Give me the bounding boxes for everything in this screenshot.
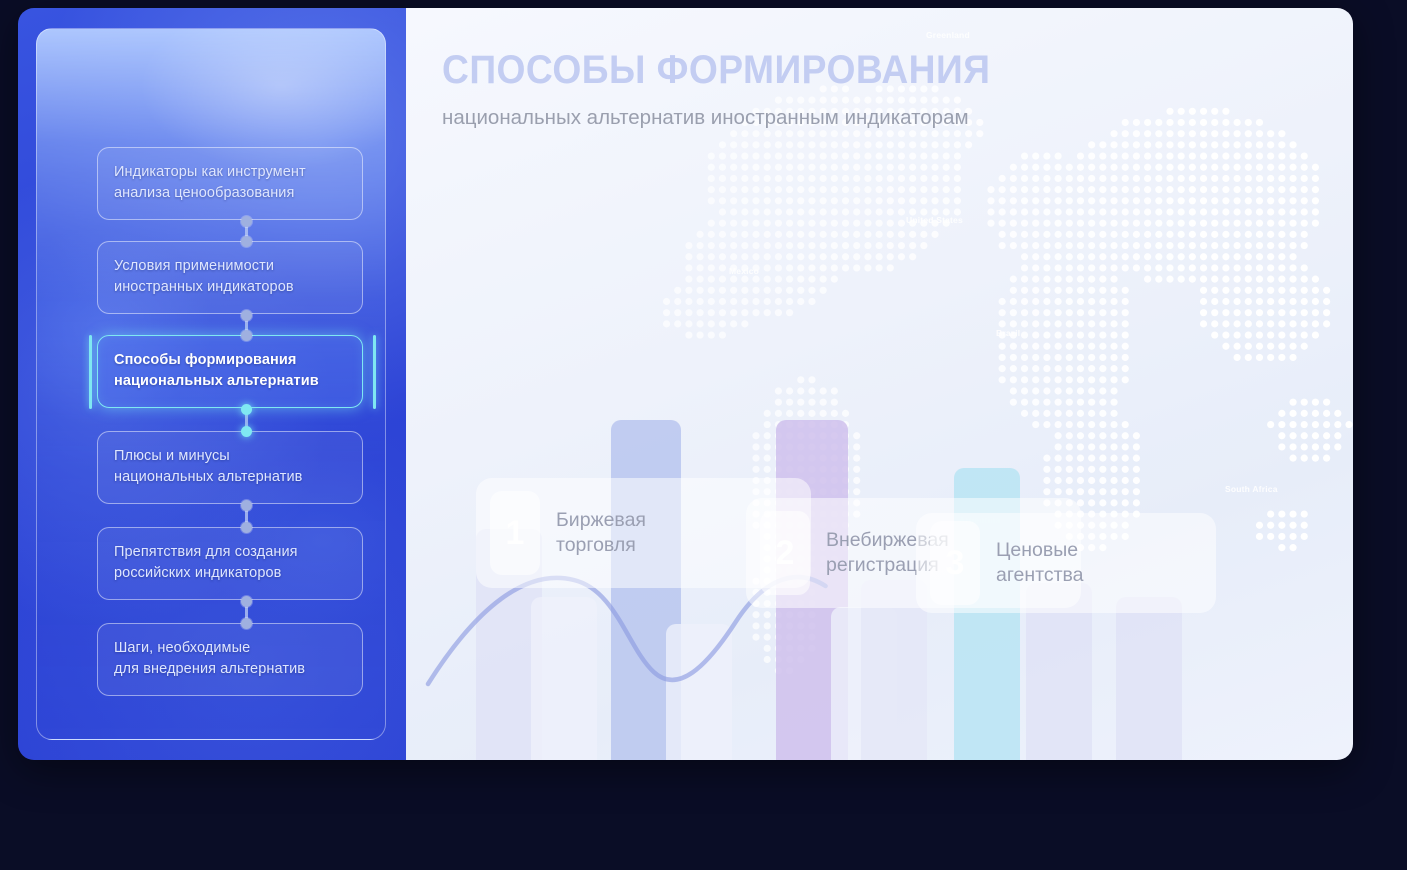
method-card-3[interactable]: 3Ценовые агентства — [916, 513, 1216, 613]
sidebar-item-label: национальных альтернатив — [114, 467, 346, 488]
sidebar-item-label: анализа ценообразования — [114, 183, 346, 204]
sidebar-item-label: иностранных индикаторов — [114, 277, 346, 298]
method-number-badge: 1 — [490, 491, 540, 575]
sidebar-item-label: для внедрения альтернатив — [114, 659, 346, 680]
nav-connector-dot — [241, 596, 252, 607]
nav-connector-dot — [241, 330, 252, 341]
sidebar-item-1[interactable]: Индикаторы как инструментанализа ценообр… — [97, 147, 363, 220]
method-number-badge: 2 — [760, 511, 810, 595]
active-accent-bar-right — [373, 335, 376, 409]
sidebar-nav-list: Индикаторы как инструментанализа ценообр… — [37, 29, 385, 739]
sidebar-item-label: Условия применимости — [114, 256, 346, 277]
sidebar-item-label: Препятствия для создания — [114, 542, 346, 563]
sidebar-item-label: Шаги, необходимые — [114, 638, 346, 659]
sidebar-item-2[interactable]: Условия применимостииностранных индикато… — [97, 241, 363, 314]
sidebar-item-label: национальных альтернатив — [114, 371, 346, 392]
nav-connector-dot — [241, 522, 252, 533]
method-label: Ценовые агентства — [996, 538, 1084, 589]
nav-connector-dot — [241, 404, 252, 415]
nav-connector-dot — [241, 216, 252, 227]
sidebar-item-label: Плюсы и минусы — [114, 446, 346, 467]
sidebar-item-label: Индикаторы как инструмент — [114, 162, 346, 183]
sidebar-item-4[interactable]: Плюсы и минусынациональных альтернатив — [97, 431, 363, 504]
nav-connector-dot — [241, 426, 252, 437]
method-label: Биржевая торговля — [556, 508, 646, 559]
page-title: СПОСОБЫ ФОРМИРОВАНИЯ — [442, 48, 990, 93]
presentation-slide: Индикаторы как инструментанализа ценообр… — [18, 8, 1353, 760]
sidebar-item-label: Способы формирования — [114, 350, 346, 371]
page-subtitle: национальных альтернатив иностранным инд… — [442, 106, 1032, 130]
sidebar-item-3[interactable]: Способы формированиянациональных альтерн… — [97, 335, 363, 408]
nav-connector-dot — [241, 236, 252, 247]
slide-content: GreenlandUnited StatesMexicoBrazilArgent… — [406, 8, 1353, 760]
sidebar-item-6[interactable]: Шаги, необходимыедля внедрения альтернат… — [97, 623, 363, 696]
active-accent-bar-left — [89, 335, 92, 409]
nav-connector-dot — [241, 500, 252, 511]
nav-connector-dot — [241, 618, 252, 629]
nav-connector-dot — [241, 310, 252, 321]
sidebar-item-5[interactable]: Препятствия для созданияроссийских индик… — [97, 527, 363, 600]
method-number-badge: 3 — [930, 521, 980, 605]
sidebar-panel: Индикаторы как инструментанализа ценообр… — [18, 8, 406, 760]
slide-headings: СПОСОБЫ ФОРМИРОВАНИЯ национальных альтер… — [442, 48, 1032, 130]
sidebar-inner-card: Индикаторы как инструментанализа ценообр… — [36, 28, 386, 740]
sidebar-item-label: российских индикаторов — [114, 563, 346, 584]
